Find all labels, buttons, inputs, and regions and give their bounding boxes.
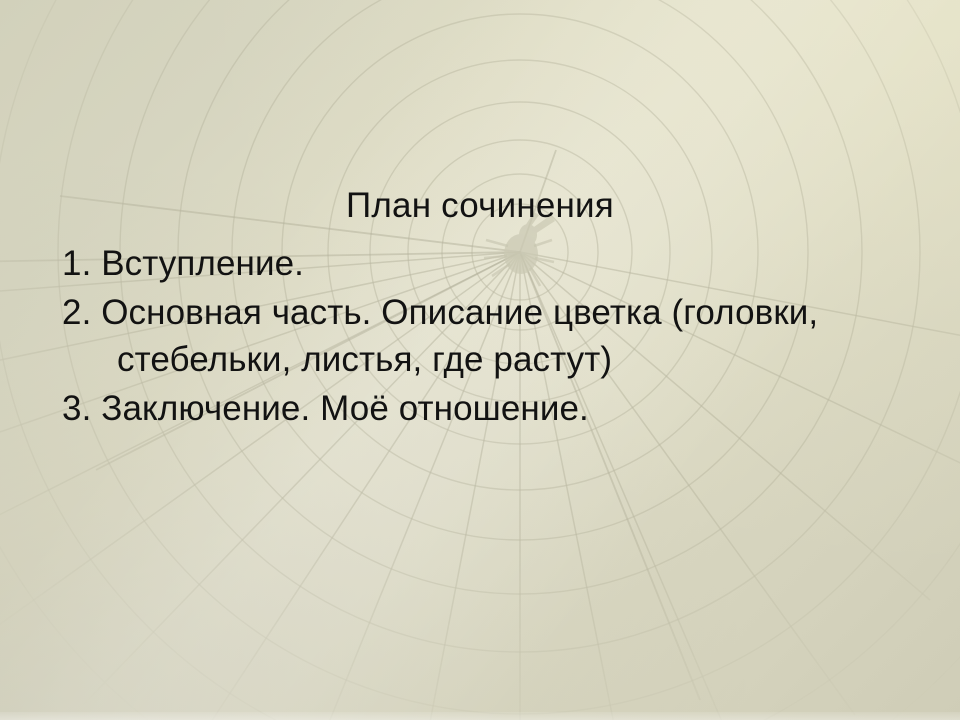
outline-list: 1. Вступление. 2. Основная часть. Описан… — [62, 240, 822, 434]
page-title: План сочинения — [0, 186, 960, 226]
list-item: 3. Заключение. Моё отношение. — [62, 385, 822, 432]
list-item: 1. Вступление. — [62, 240, 822, 287]
list-item: 2. Основная часть. Описание цветка (голо… — [62, 289, 862, 383]
slide-content: План сочинения 1. Вступление. 2. Основна… — [0, 0, 960, 720]
presentation-slide: План сочинения 1. Вступление. 2. Основна… — [0, 0, 960, 720]
